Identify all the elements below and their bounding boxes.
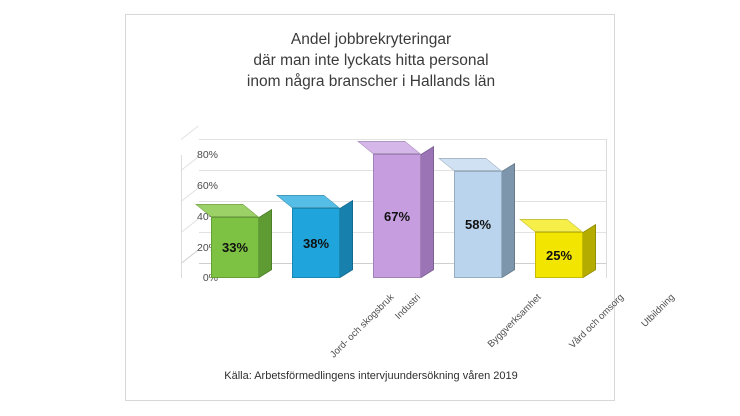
chart-title-line-1: Andel jobbrekryteringar — [126, 29, 616, 50]
bar-side-face-1 — [259, 209, 272, 278]
category-axis-labels: Jord- och skogsbruk Industri Byggverksam… — [199, 292, 629, 372]
bar-side-face-2 — [340, 200, 353, 278]
bar-top-face-2 — [276, 195, 340, 208]
bar-value-label-2: 38% — [292, 236, 340, 251]
category-label-vard-och-omsorg: Vård och omsorg — [567, 292, 626, 351]
category-label-byggverksamhet: Byggverksamhet — [486, 292, 544, 350]
plot-area: 80% 60% 40% 20% 0% 33% — [126, 115, 616, 290]
category-label-industri: Industri — [393, 292, 423, 322]
source-note: Källa: Arbetsförmedlingens intervjuunder… — [126, 370, 616, 382]
chart-title-line-2: där man inte lyckats hitta personal — [126, 50, 616, 71]
bar-jord-och-skogsbruk[interactable]: 33% — [211, 217, 259, 278]
chart-title: Andel jobbrekryteringar där man inte lyc… — [126, 29, 616, 92]
bar-value-label-5: 25% — [535, 248, 583, 263]
bar-top-face-4 — [438, 158, 502, 171]
screenshot-canvas: Andel jobbrekryteringar där man inte lyc… — [0, 0, 740, 416]
bar-byggverksamhet[interactable]: 67% — [373, 154, 421, 278]
gridline-depth-80 — [181, 126, 199, 140]
bar-side-face-3 — [421, 146, 434, 278]
bar-group: 33% 38% 67% — [199, 115, 607, 290]
chart-title-line-3: inom några branscher i Hallands län — [126, 71, 616, 92]
bar-top-face-3 — [357, 141, 421, 154]
bar-top-face-5 — [519, 219, 583, 232]
bar-vard-och-omsorg[interactable]: 58% — [454, 171, 502, 278]
chart-frame: Andel jobbrekryteringar där man inte lyc… — [125, 14, 615, 401]
bar-utbildning[interactable]: 25% — [535, 232, 583, 278]
bar-industri[interactable]: 38% — [292, 208, 340, 278]
category-label-jord-och-skogsbruk: Jord- och skogsbruk — [328, 292, 396, 360]
bar-value-label-3: 67% — [373, 209, 421, 224]
category-label-utbildning: Utbildning — [639, 292, 677, 330]
bar-side-face-5 — [583, 224, 596, 278]
bar-side-face-4 — [502, 163, 515, 278]
bar-top-face-1 — [195, 204, 259, 217]
bar-value-label-1: 33% — [211, 240, 259, 255]
bar-value-label-4: 58% — [454, 217, 502, 232]
